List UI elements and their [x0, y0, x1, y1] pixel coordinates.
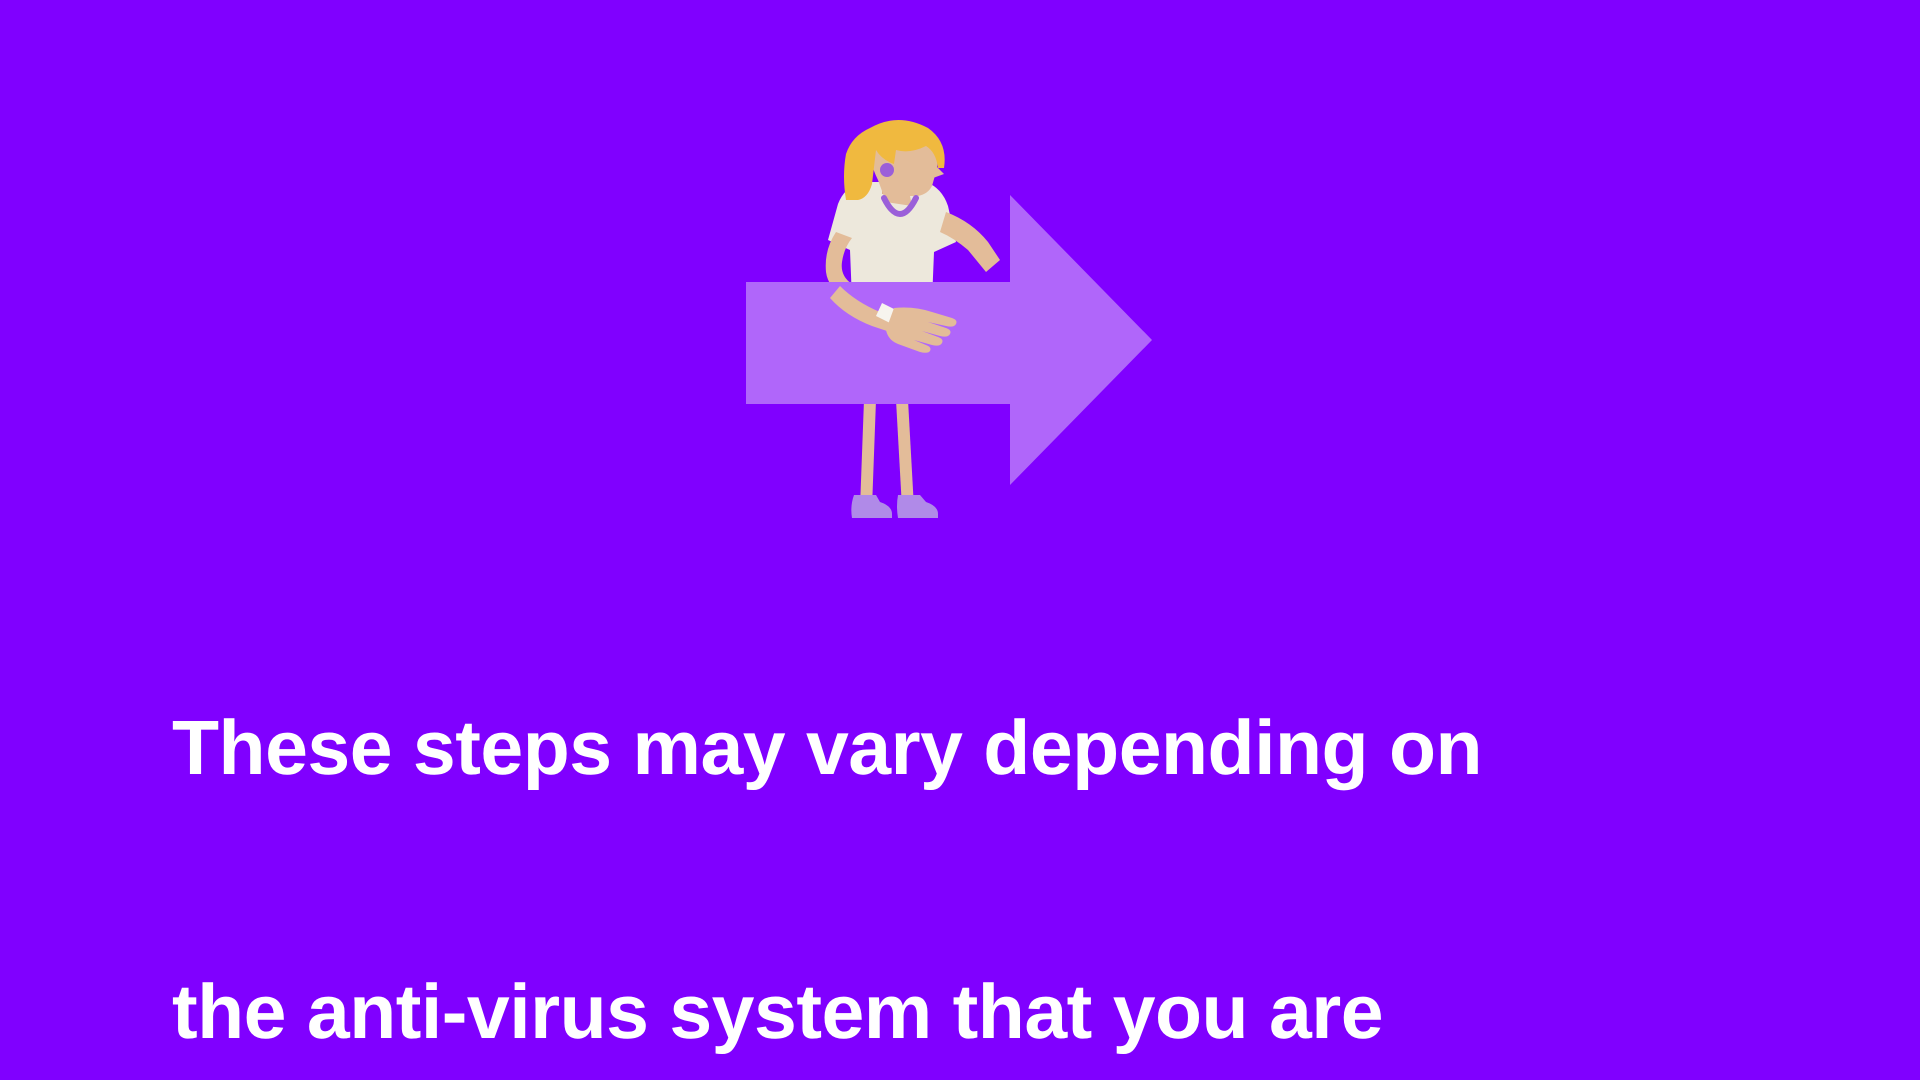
page-title: These steps may vary depending on the an…	[172, 528, 1492, 1080]
headline-line-2: the anti-virus system that you are	[172, 968, 1492, 1056]
headline-line-1: These steps may vary depending on	[172, 704, 1492, 792]
figure-earring	[880, 163, 894, 177]
slide-canvas: These steps may vary depending on the an…	[0, 0, 1920, 1080]
figure-legs	[860, 400, 914, 508]
figure-shoes	[851, 495, 938, 518]
